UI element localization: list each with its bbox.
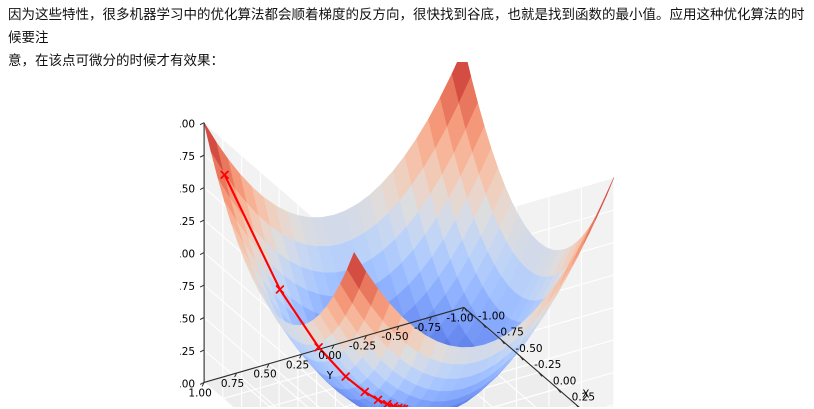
svg-text:0.75: 0.75 xyxy=(180,281,195,293)
svg-text:0.50: 0.50 xyxy=(180,314,195,326)
svg-text:-1.00: -1.00 xyxy=(446,312,473,324)
svg-text:1.00: 1.00 xyxy=(180,249,195,261)
y-axis-title: Y xyxy=(326,370,334,382)
svg-text:0.50: 0.50 xyxy=(253,369,276,381)
svg-text:2.00: 2.00 xyxy=(180,119,195,131)
svg-text:0.25: 0.25 xyxy=(180,346,195,358)
svg-text:1.00: 1.00 xyxy=(188,387,211,399)
svg-text:-0.75: -0.75 xyxy=(497,327,524,339)
svg-text:0.00: 0.00 xyxy=(318,350,341,362)
svg-text:-0.75: -0.75 xyxy=(414,322,441,334)
svg-text:1.75: 1.75 xyxy=(180,151,195,163)
svg-text:-1.00: -1.00 xyxy=(478,310,505,322)
surface-plot-svg: 0.000.250.500.751.001.251.501.752.001.00… xyxy=(180,62,630,407)
svg-text:0.00: 0.00 xyxy=(553,375,576,387)
svg-text:-0.50: -0.50 xyxy=(515,343,542,355)
page-root: 因为这些特性，很多机器学习中的优化算法都会顺着梯度的反方向，很快找到谷底，也就是… xyxy=(0,0,814,409)
svg-text:0.25: 0.25 xyxy=(286,359,309,371)
paragraph-line-1: 因为这些特性，很多机器学习中的优化算法都会顺着梯度的反方向，很快找到谷底，也就是… xyxy=(8,4,808,50)
matplotlib-3d-surface-figure: 0.000.250.500.751.001.251.501.752.001.00… xyxy=(180,62,630,407)
svg-text:-0.25: -0.25 xyxy=(349,341,376,353)
svg-text:-0.25: -0.25 xyxy=(534,359,561,371)
svg-text:0.75: 0.75 xyxy=(221,378,244,390)
svg-text:-0.50: -0.50 xyxy=(381,331,408,343)
svg-text:1.25: 1.25 xyxy=(180,216,195,228)
svg-text:1.50: 1.50 xyxy=(180,184,195,196)
x-axis-title: X xyxy=(582,388,589,400)
